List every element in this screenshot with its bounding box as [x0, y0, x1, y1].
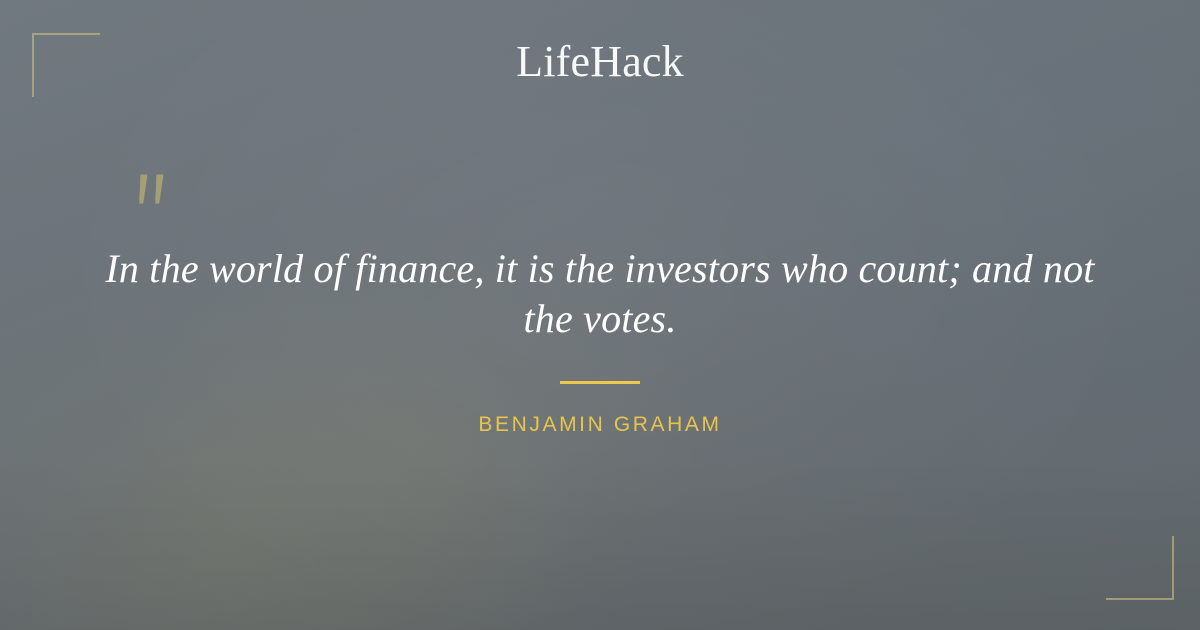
- lifehack-logo: LifeHack: [0, 36, 1200, 88]
- quote-author: BENJAMIN GRAHAM: [0, 412, 1200, 438]
- corner-bracket-bottom-right-icon: [1106, 536, 1174, 600]
- quote-line-1: In the world of finance, it is the inves…: [105, 246, 1032, 291]
- quote-text: In the world of finance, it is the inves…: [100, 244, 1100, 344]
- double-quote-icon: [131, 172, 175, 220]
- quote-card: LifeHack In the world of finance, it is …: [0, 0, 1200, 630]
- gold-divider: [560, 381, 640, 384]
